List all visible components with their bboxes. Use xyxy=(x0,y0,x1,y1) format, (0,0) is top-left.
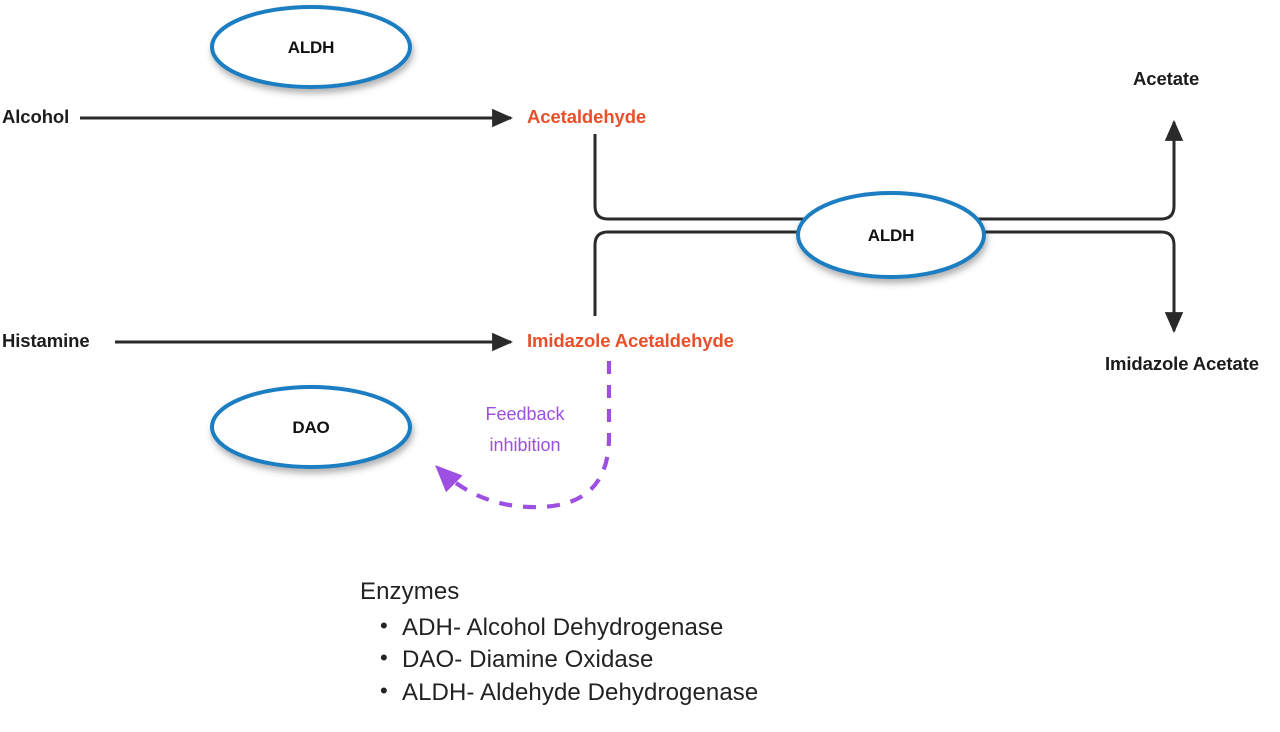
enzyme-label-aldh-middle: ALDH xyxy=(798,227,984,244)
legend-list: ADH- Alcohol Dehydrogenase DAO- Diamine … xyxy=(360,612,758,710)
pathway-diagram-canvas: Alcohol Histamine Acetaldehyde Imidazole… xyxy=(0,0,1280,732)
substrate-label-histamine: Histamine xyxy=(2,332,90,351)
substrate-label-alcohol: Alcohol xyxy=(2,108,69,127)
product-label-imidazole-acetate: Imidazole Acetate xyxy=(1105,355,1259,374)
intermediate-label-acetaldehyde: Acetaldehyde xyxy=(527,108,646,127)
enzyme-label-dao: DAO xyxy=(212,419,410,436)
legend-item-dao: DAO- Diamine Oxidase xyxy=(360,644,758,677)
enzymes-legend: Enzymes ADH- Alcohol Dehydrogenase DAO- … xyxy=(360,578,758,710)
product-label-acetate: Acetate xyxy=(1133,70,1199,89)
feedback-inhibition-annotation: Feedback inhibition xyxy=(476,399,574,461)
legend-item-aldh: ALDH- Aldehyde Dehydrogenase xyxy=(360,677,758,710)
intermediate-label-imidazole-acetaldehyde: Imidazole Acetaldehyde xyxy=(527,332,734,351)
feedback-annotation-line-1: Feedback xyxy=(476,399,574,430)
legend-item-adh: ADH- Alcohol Dehydrogenase xyxy=(360,612,758,645)
enzyme-label-aldh-top: ALDH xyxy=(212,39,410,56)
legend-title: Enzymes xyxy=(360,578,758,607)
feedback-annotation-line-2: inhibition xyxy=(476,430,574,461)
